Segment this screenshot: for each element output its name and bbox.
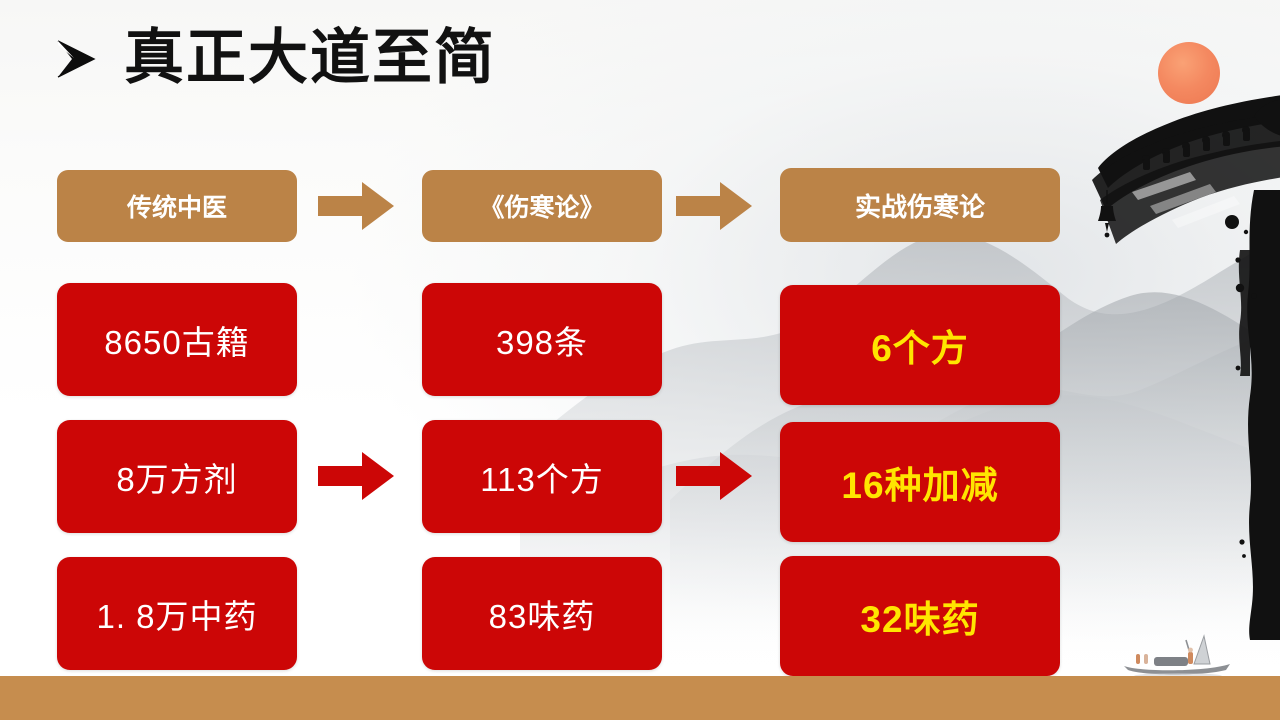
right-arrow-icon-row-2 [676,452,752,500]
page-title: 真正大道至简 [124,28,496,88]
stat-box-c3-r1[interactable]: 6个方 [780,285,1060,405]
column-header-1[interactable]: 传统中医 [57,170,297,242]
stat-box-c2-r2-label: 113个方 [480,453,604,501]
sun-icon [1158,42,1220,104]
right-arrow-icon-header-2 [676,182,752,230]
stat-box-c3-r3[interactable]: 32味药 [780,556,1060,676]
stat-box-c1-r2-label: 8万方剂 [116,453,237,501]
column-header-1-label: 传统中医 [127,188,227,224]
stat-box-c2-r3-label: 83味药 [489,590,596,638]
column-header-2-label: 《伤寒论》 [479,188,604,224]
column-header-2[interactable]: 《伤寒论》 [422,170,662,242]
right-arrow-icon-row-1 [318,452,394,500]
stat-box-c2-r3[interactable]: 83味药 [422,557,662,670]
stat-box-c2-r1-label: 398条 [496,316,588,364]
stat-box-c1-r1-label: 8650古籍 [104,316,249,364]
sailing-boat-icon [1118,630,1238,680]
stat-box-c2-r2[interactable]: 113个方 [422,420,662,533]
stat-box-c1-r3-label: 1. 8万中药 [96,590,257,638]
ink-stroke-icon [1210,190,1280,640]
right-arrow-icon-header-1 [318,182,394,230]
stat-box-c3-r1-label: 6个方 [871,318,969,372]
stat-box-c3-r2-label: 16种加减 [841,455,998,509]
arrow-bullet-icon [52,35,98,81]
stat-box-c3-r3-label: 32味药 [860,589,979,643]
stat-box-c1-r1[interactable]: 8650古籍 [57,283,297,396]
column-header-3[interactable]: 实战伤寒论 [780,168,1060,242]
hanging-bell-icon [1096,190,1118,240]
stat-box-c1-r3[interactable]: 1. 8万中药 [57,557,297,670]
footer-bar [0,676,1280,720]
stat-box-c2-r1[interactable]: 398条 [422,283,662,396]
stat-box-c1-r2[interactable]: 8万方剂 [57,420,297,533]
stat-box-c3-r2[interactable]: 16种加减 [780,422,1060,542]
temple-roof-icon [1040,60,1280,260]
slide-title-row: 真正大道至简 [52,28,496,88]
slide-canvas: 真正大道至简 传统中医 8650古籍 8万方剂 1. 8万中药 《伤寒论》 39… [0,0,1280,720]
column-header-3-label: 实战伤寒论 [855,187,985,224]
